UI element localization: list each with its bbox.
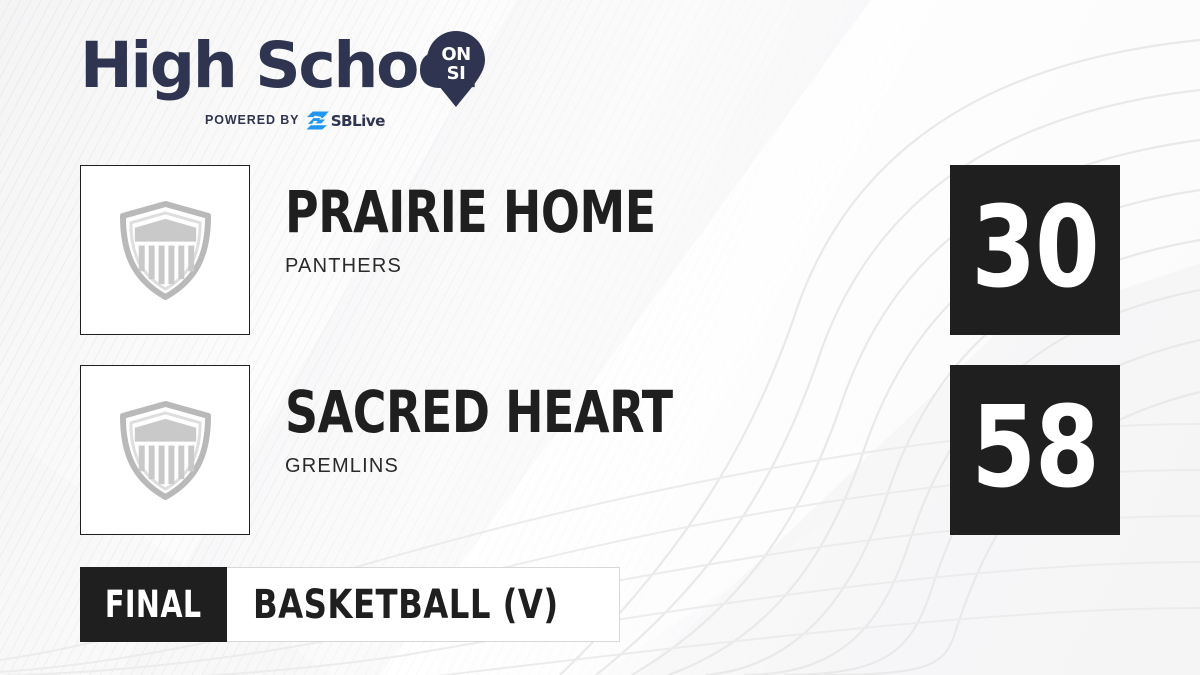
shield-placeholder-icon	[118, 401, 213, 500]
team-score: 30	[971, 192, 1098, 304]
team-logo-box	[80, 365, 250, 535]
team-mascot: GREMLINS	[285, 455, 925, 477]
status-badge-label: FINAL	[105, 583, 202, 626]
brand-logo-lockup: High School ON SI POWERED BY SBLive	[80, 34, 510, 142]
sport-label: BASKETBALL (V)	[253, 582, 559, 628]
team-score-box: 30	[950, 165, 1120, 335]
team-row: PRAIRIE HOME PANTHERS 30	[0, 165, 1200, 335]
team-text-block: PRAIRIE HOME PANTHERS	[285, 183, 925, 277]
team-logo-box	[80, 165, 250, 335]
sblive-wordmark: SBLive	[331, 112, 385, 130]
team-text-block: SACRED HEART GREMLINS	[285, 383, 925, 477]
shield-placeholder-icon	[118, 201, 213, 300]
powered-by-label: POWERED BY	[205, 113, 299, 127]
team-score: 58	[971, 392, 1098, 504]
game-status-bar: FINAL BASKETBALL (V)	[80, 567, 620, 642]
status-badge: FINAL	[80, 567, 227, 642]
team-name: SACRED HEART	[285, 383, 848, 441]
on-si-pin-icon: ON SI	[425, 30, 487, 108]
pin-text-si: SI	[447, 63, 466, 84]
sport-label-box: BASKETBALL (V)	[227, 567, 620, 642]
team-name: PRAIRIE HOME	[285, 183, 848, 241]
powered-by-row: POWERED BY SBLive	[205, 110, 419, 130]
team-score-box: 58	[950, 365, 1120, 535]
team-mascot: PANTHERS	[285, 255, 925, 277]
sblive-logo: SBLive	[306, 111, 418, 130]
pin-text-on: ON	[441, 44, 470, 65]
brand-wordmark: High School	[80, 34, 478, 97]
team-row: SACRED HEART GREMLINS 58	[0, 365, 1200, 535]
